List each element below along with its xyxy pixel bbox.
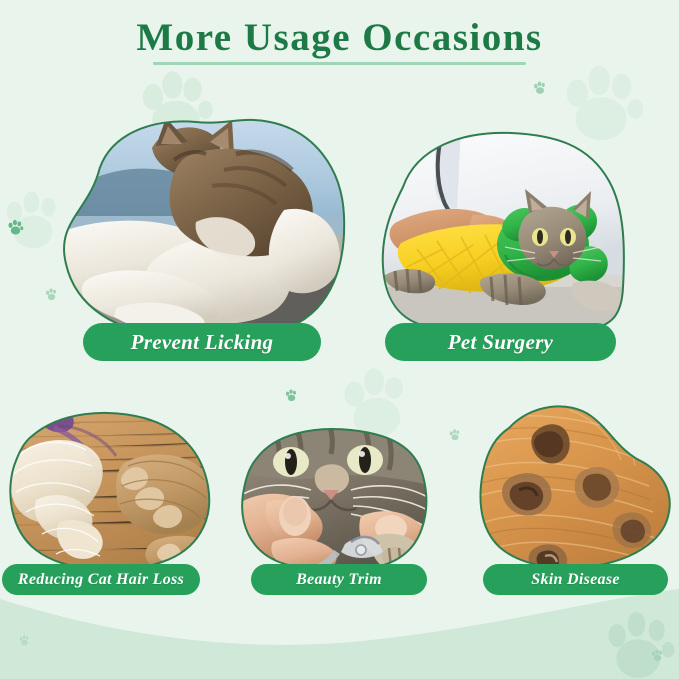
- photo-prevent-licking: [56, 112, 348, 342]
- paw-print-icon: [650, 648, 665, 663]
- paw-print-icon: [448, 428, 462, 442]
- occasion-badge-prevent-licking[interactable]: Prevent Licking: [83, 323, 321, 361]
- photo-pet-surgery: [377, 127, 635, 340]
- occasion-badge-label: Beauty Trim: [296, 571, 382, 589]
- paw-print-icon: [284, 388, 299, 403]
- occasion-card-prevent-licking: [56, 112, 348, 342]
- occasion-badge-label: Reducing Cat Hair Loss: [18, 571, 184, 589]
- photo-hair-loss: [2, 404, 217, 576]
- occasion-badge-label: Prevent Licking: [131, 330, 274, 355]
- title-underline: [153, 62, 526, 65]
- paw-print-icon: [596, 604, 679, 679]
- occasion-badge-beauty-trim[interactable]: Beauty Trim: [251, 564, 427, 595]
- usage-occasions-poster: More Usage Occasions: [0, 0, 679, 679]
- occasion-card-beauty-trim: [233, 424, 433, 576]
- paw-print-icon: [6, 218, 25, 237]
- photo-skin-disease: [473, 398, 674, 576]
- occasion-card-pet-surgery: [377, 127, 635, 340]
- occasion-card-hair-loss: [2, 404, 217, 576]
- occasion-card-skin-disease: [473, 398, 674, 576]
- page-title-text: More Usage Occasions: [136, 16, 542, 59]
- photo-beauty-trim: [233, 424, 433, 576]
- occasion-badge-skin-disease[interactable]: Skin Disease: [483, 564, 668, 595]
- paw-print-icon: [18, 634, 31, 647]
- occasion-badge-label: Skin Disease: [531, 571, 620, 589]
- occasion-badge-hair-loss[interactable]: Reducing Cat Hair Loss: [2, 564, 200, 595]
- occasion-badge-pet-surgery[interactable]: Pet Surgery: [385, 323, 616, 361]
- paw-print-icon: [532, 80, 548, 96]
- page-title: More Usage Occasions: [132, 16, 546, 67]
- occasion-badge-label: Pet Surgery: [448, 330, 553, 355]
- page-title-container: More Usage Occasions: [0, 16, 679, 67]
